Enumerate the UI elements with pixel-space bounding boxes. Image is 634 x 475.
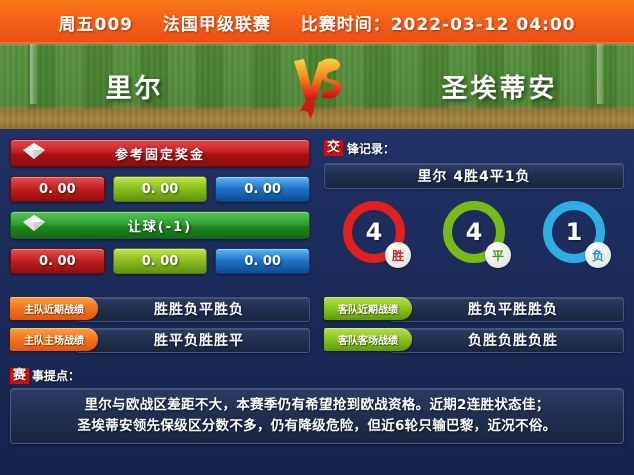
main-body: 参考固定奖金 0. 00 0. 00 0. 00 [0, 129, 634, 283]
home-home-form-label: 主队主场战绩 [10, 328, 98, 351]
ring-draw-value: 4 [466, 218, 483, 246]
league-name: 法国甲级联赛 [163, 15, 271, 35]
h2h-panel: 交 锋记录： 里尔 4胜4平1负 4 胜 4 [324, 139, 624, 283]
h2h-ring-draw[interactable]: 4 平 [443, 201, 505, 263]
header-title-line: 周五009 法国甲级联赛 比赛时间：2022-03-12 04:00 [59, 10, 576, 35]
home-team-name[interactable]: 里尔 [0, 68, 269, 105]
handicap-odds-draw[interactable]: 0. 00 [113, 248, 208, 274]
h2h-tag: 交 [324, 140, 343, 156]
handicap-title-bar[interactable]: 让球(-1) [10, 211, 310, 239]
notes-line: 里尔与欧战区差距不大，本赛季仍有希望抢到欧战资格。近期2连胜状态佳； [21, 395, 613, 416]
form-row[interactable]: 主队近期战绩 胜胜负平胜负 [10, 297, 310, 320]
odds-away-win[interactable]: 0. 00 [215, 176, 310, 202]
away-team-name[interactable]: 圣埃蒂安 [365, 68, 634, 105]
ring-win-badge: 胜 [385, 242, 411, 268]
h2h-rings: 4 胜 4 平 1 负 [324, 201, 624, 263]
h2h-summary-bar: 里尔 4胜4平1负 [324, 163, 624, 189]
handicap-odds-home-win[interactable]: 0. 00 [10, 248, 105, 274]
home-form-column: 主队近期战绩 胜胜负平胜负 主队主场战绩 胜平负胜胜平 [10, 297, 310, 359]
fixed-payout-title-bar[interactable]: 参考固定奖金 [10, 139, 310, 167]
handicap-odds-away-win[interactable]: 0. 00 [215, 248, 310, 274]
home-recent-form-value: 胜胜负平胜负 [88, 299, 310, 319]
diamond-gem-icon [21, 213, 47, 237]
form-row[interactable]: 主队主场战绩 胜平负胜胜平 [10, 328, 310, 351]
form-row[interactable]: 客队客场战绩 负胜负胜负胜 [324, 328, 624, 351]
home-home-form-value: 胜平负胜胜平 [88, 330, 310, 350]
body-columns: 参考固定奖金 0. 00 0. 00 0. 00 [10, 139, 624, 283]
odds-draw[interactable]: 0. 00 [113, 176, 208, 202]
away-recent-form-value: 胜负平胜胜负 [402, 299, 624, 319]
notes-tag: 赛 [10, 368, 29, 384]
ring-loss-value: 1 [566, 218, 583, 246]
form-section: 主队近期战绩 胜胜负平胜负 主队主场战绩 胜平负胜胜平 客队近期战绩 胜负平胜胜… [0, 283, 634, 359]
fixed-payout-title: 参考固定奖金 [115, 144, 205, 163]
h2h-ring-win[interactable]: 4 胜 [343, 201, 405, 263]
home-recent-form-label: 主队近期战绩 [10, 297, 98, 320]
match-preview-card: 周五009 法国甲级联赛 比赛时间：2022-03-12 04:00 里尔 [0, 0, 634, 475]
teams-banner: 里尔 圣埃蒂安 [0, 44, 634, 129]
away-recent-form-label: 客队近期战绩 [324, 297, 412, 320]
kickoff-time: 2022-03-12 04:00 [391, 15, 576, 35]
ring-loss-badge: 负 [585, 242, 611, 268]
diamond-gem-icon [21, 141, 47, 165]
kickoff-label: 比赛时间： [301, 15, 391, 35]
notes-box: 里尔与欧战区差距不大，本赛季仍有希望抢到欧战资格。近期2连胜状态佳； 圣埃蒂安领… [10, 388, 624, 444]
h2h-summary-text: 里尔 4胜4平1负 [417, 166, 530, 186]
payout-panel: 参考固定奖金 0. 00 0. 00 0. 00 [10, 139, 310, 283]
h2h-ring-loss[interactable]: 1 负 [543, 201, 605, 263]
notes-header: 赛 事提点： [10, 367, 624, 384]
notes-line: 圣埃蒂安领先保级区分数不多，仍有降级危险，但近6轮只输巴黎，近况不俗。 [21, 416, 613, 437]
fixed-payout-odds-row: 0. 00 0. 00 0. 00 [10, 176, 310, 202]
notes-section: 赛 事提点： 里尔与欧战区差距不大，本赛季仍有希望抢到欧战资格。近期2连胜状态佳… [0, 359, 634, 444]
odds-home-win[interactable]: 0. 00 [10, 176, 105, 202]
match-header: 周五009 法国甲级联赛 比赛时间：2022-03-12 04:00 [0, 0, 634, 44]
handicap-title: 让球(-1) [128, 216, 192, 235]
vs-flame-icon [269, 53, 365, 121]
away-away-form-label: 客队客场战绩 [324, 328, 412, 351]
ring-draw-badge: 平 [485, 242, 511, 268]
h2h-header-label: 锋记录： [347, 140, 395, 157]
teams-row: 里尔 圣埃蒂安 [0, 44, 634, 129]
away-away-form-value: 负胜负胜负胜 [402, 330, 624, 350]
away-form-column: 客队近期战绩 胜负平胜胜负 客队客场战绩 负胜负胜负胜 [324, 297, 624, 359]
ring-win-value: 4 [366, 218, 383, 246]
notes-header-label: 事提点： [32, 367, 80, 384]
handicap-odds-row: 0. 00 0. 00 0. 00 [10, 248, 310, 274]
match-number: 周五009 [59, 15, 134, 35]
h2h-header: 交 锋记录： [324, 139, 624, 157]
form-row[interactable]: 客队近期战绩 胜负平胜胜负 [324, 297, 624, 320]
